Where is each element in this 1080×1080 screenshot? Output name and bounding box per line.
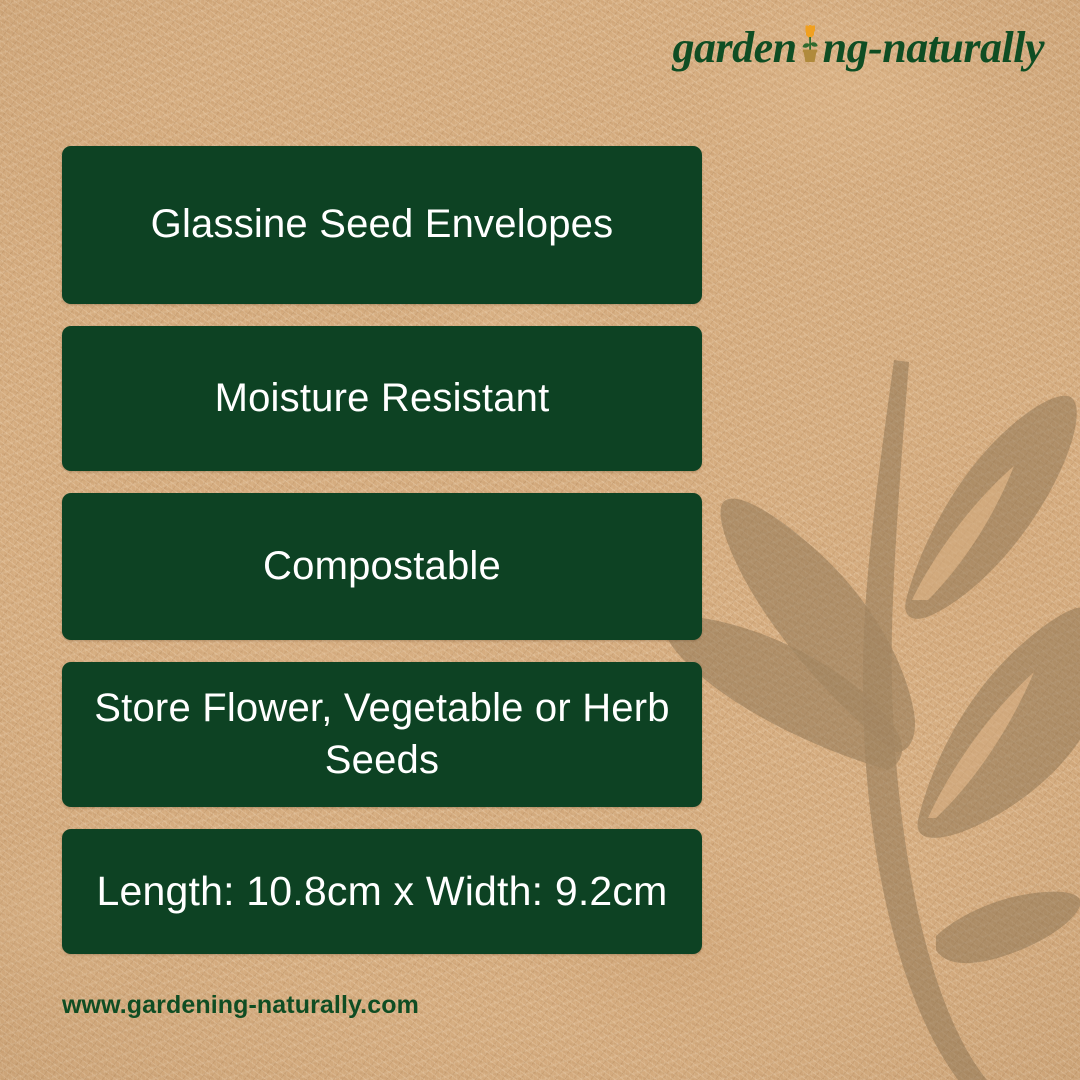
logo-text-after: ng-naturally [823, 22, 1044, 73]
feature-label-5: Length: 10.8cm x Width: 9.2cm [97, 865, 668, 917]
feature-label-2: Moisture Resistant [215, 373, 550, 424]
logo-text-before: garden [672, 22, 796, 73]
feature-box-4[interactable]: Store Flower, Vegetable or Herb Seeds [62, 662, 702, 807]
feature-list: Glassine Seed Envelopes Moisture Resista… [62, 146, 702, 976]
feature-label-1: Glassine Seed Envelopes [151, 199, 614, 250]
feature-label-4: Store Flower, Vegetable or Herb Seeds [88, 683, 676, 785]
website-url[interactable]: www.gardening-naturally.com [62, 991, 419, 1020]
brand-logo[interactable]: garden ng-naturally [672, 18, 1044, 73]
feature-box-5[interactable]: Length: 10.8cm x Width: 9.2cm [62, 829, 702, 954]
feature-box-2[interactable]: Moisture Resistant [62, 326, 702, 471]
feature-label-3: Compostable [263, 541, 501, 592]
feature-box-1[interactable]: Glassine Seed Envelopes [62, 146, 702, 304]
feature-box-3[interactable]: Compostable [62, 493, 702, 640]
product-feature-card: Made Mo garden ng-naturally [0, 0, 1080, 1080]
flower-pot-icon [797, 18, 823, 62]
